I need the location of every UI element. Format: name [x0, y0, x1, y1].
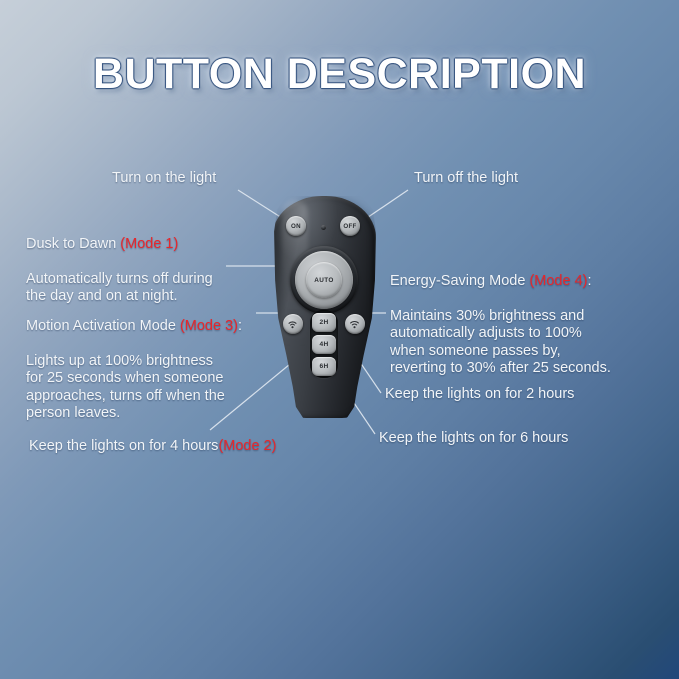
remote-button-on[interactable]: ON: [286, 216, 306, 236]
annotation-motion-activation-mode: Motion Activation Mode (Mode 3): Lights …: [26, 300, 242, 423]
annotation-dusk-to-dawn-mode: (Mode 1): [120, 236, 178, 252]
annotation-timer-4h: Keep the lights on for 4 hours(Mode 2): [29, 438, 276, 456]
annotation-dusk-to-dawn: Dusk to Dawn (Mode 1) Automatically turn…: [26, 218, 213, 306]
annotation-motion-activation-heading: Motion Activation Mode: [26, 318, 180, 334]
remote-button-timer-2h[interactable]: 2H: [312, 313, 336, 332]
remote-button-timer-6h[interactable]: 6H: [312, 357, 336, 376]
button-description-infographic: BUTTON DESCRIPTION ON: [0, 0, 679, 679]
annotation-motion-activation-mode-label: (Mode 3): [180, 318, 238, 334]
annotation-timer-4h-text: Keep the lights on for 4 hours: [29, 438, 218, 454]
remote-button-timer-2h-label: 2H: [319, 319, 328, 326]
remote-button-auto[interactable]: AUTO: [306, 262, 342, 298]
annotation-dusk-to-dawn-heading: Dusk to Dawn: [26, 236, 120, 252]
annotation-energy-saving-body: Maintains 30% brightness and automatical…: [390, 308, 611, 377]
remote-button-timer-4h[interactable]: 4H: [312, 335, 336, 354]
annotation-energy-saving-mode-label: (Mode 4): [529, 273, 587, 289]
remote-button-on-label: ON: [291, 223, 301, 230]
annotation-timer-4h-mode: (Mode 2): [218, 438, 276, 454]
annotation-dusk-to-dawn-body: Automatically turns off during the day a…: [26, 271, 213, 305]
annotation-timer-2h-text: Keep the lights on for 2 hours: [385, 386, 574, 402]
annotation-energy-saving-mode: Energy-Saving Mode (Mode 4): Maintains 3…: [390, 255, 611, 378]
remote-control: ON OFF AUTO 2H: [272, 196, 376, 418]
annotation-energy-saving-heading: Energy-Saving Mode: [390, 273, 529, 289]
remote-button-off-label: OFF: [343, 223, 356, 230]
remote-button-timer-4h-label: 4H: [319, 341, 328, 348]
remote-button-off[interactable]: OFF: [340, 216, 360, 236]
annotation-turn-off-the-light: Turn off the light: [414, 170, 518, 188]
annotation-motion-activation-colon: :: [238, 318, 242, 334]
brightness-low-icon: [287, 319, 300, 329]
remote-button-auto-label: AUTO: [314, 277, 334, 284]
annotation-timer-2h: Keep the lights on for 2 hours: [385, 386, 574, 404]
remote-button-brightness-high[interactable]: [345, 314, 365, 334]
brightness-high-icon: [349, 319, 362, 329]
annotation-motion-activation-body: Lights up at 100% brightness for 25 seco…: [26, 353, 225, 422]
remote-button-timer-6h-label: 6H: [319, 363, 328, 370]
page-title: BUTTON DESCRIPTION: [0, 50, 679, 99]
annotation-turn-on-text: Turn on the light: [112, 170, 216, 186]
ir-led-indicator: [321, 225, 326, 230]
annotation-turn-off-text: Turn off the light: [414, 170, 518, 186]
annotation-timer-6h: Keep the lights on for 6 hours: [379, 430, 568, 448]
remote-button-brightness-low[interactable]: [283, 314, 303, 334]
annotation-energy-saving-colon: :: [587, 273, 591, 289]
annotation-turn-on-the-light: Turn on the light: [112, 170, 216, 188]
annotation-timer-6h-text: Keep the lights on for 6 hours: [379, 430, 568, 446]
